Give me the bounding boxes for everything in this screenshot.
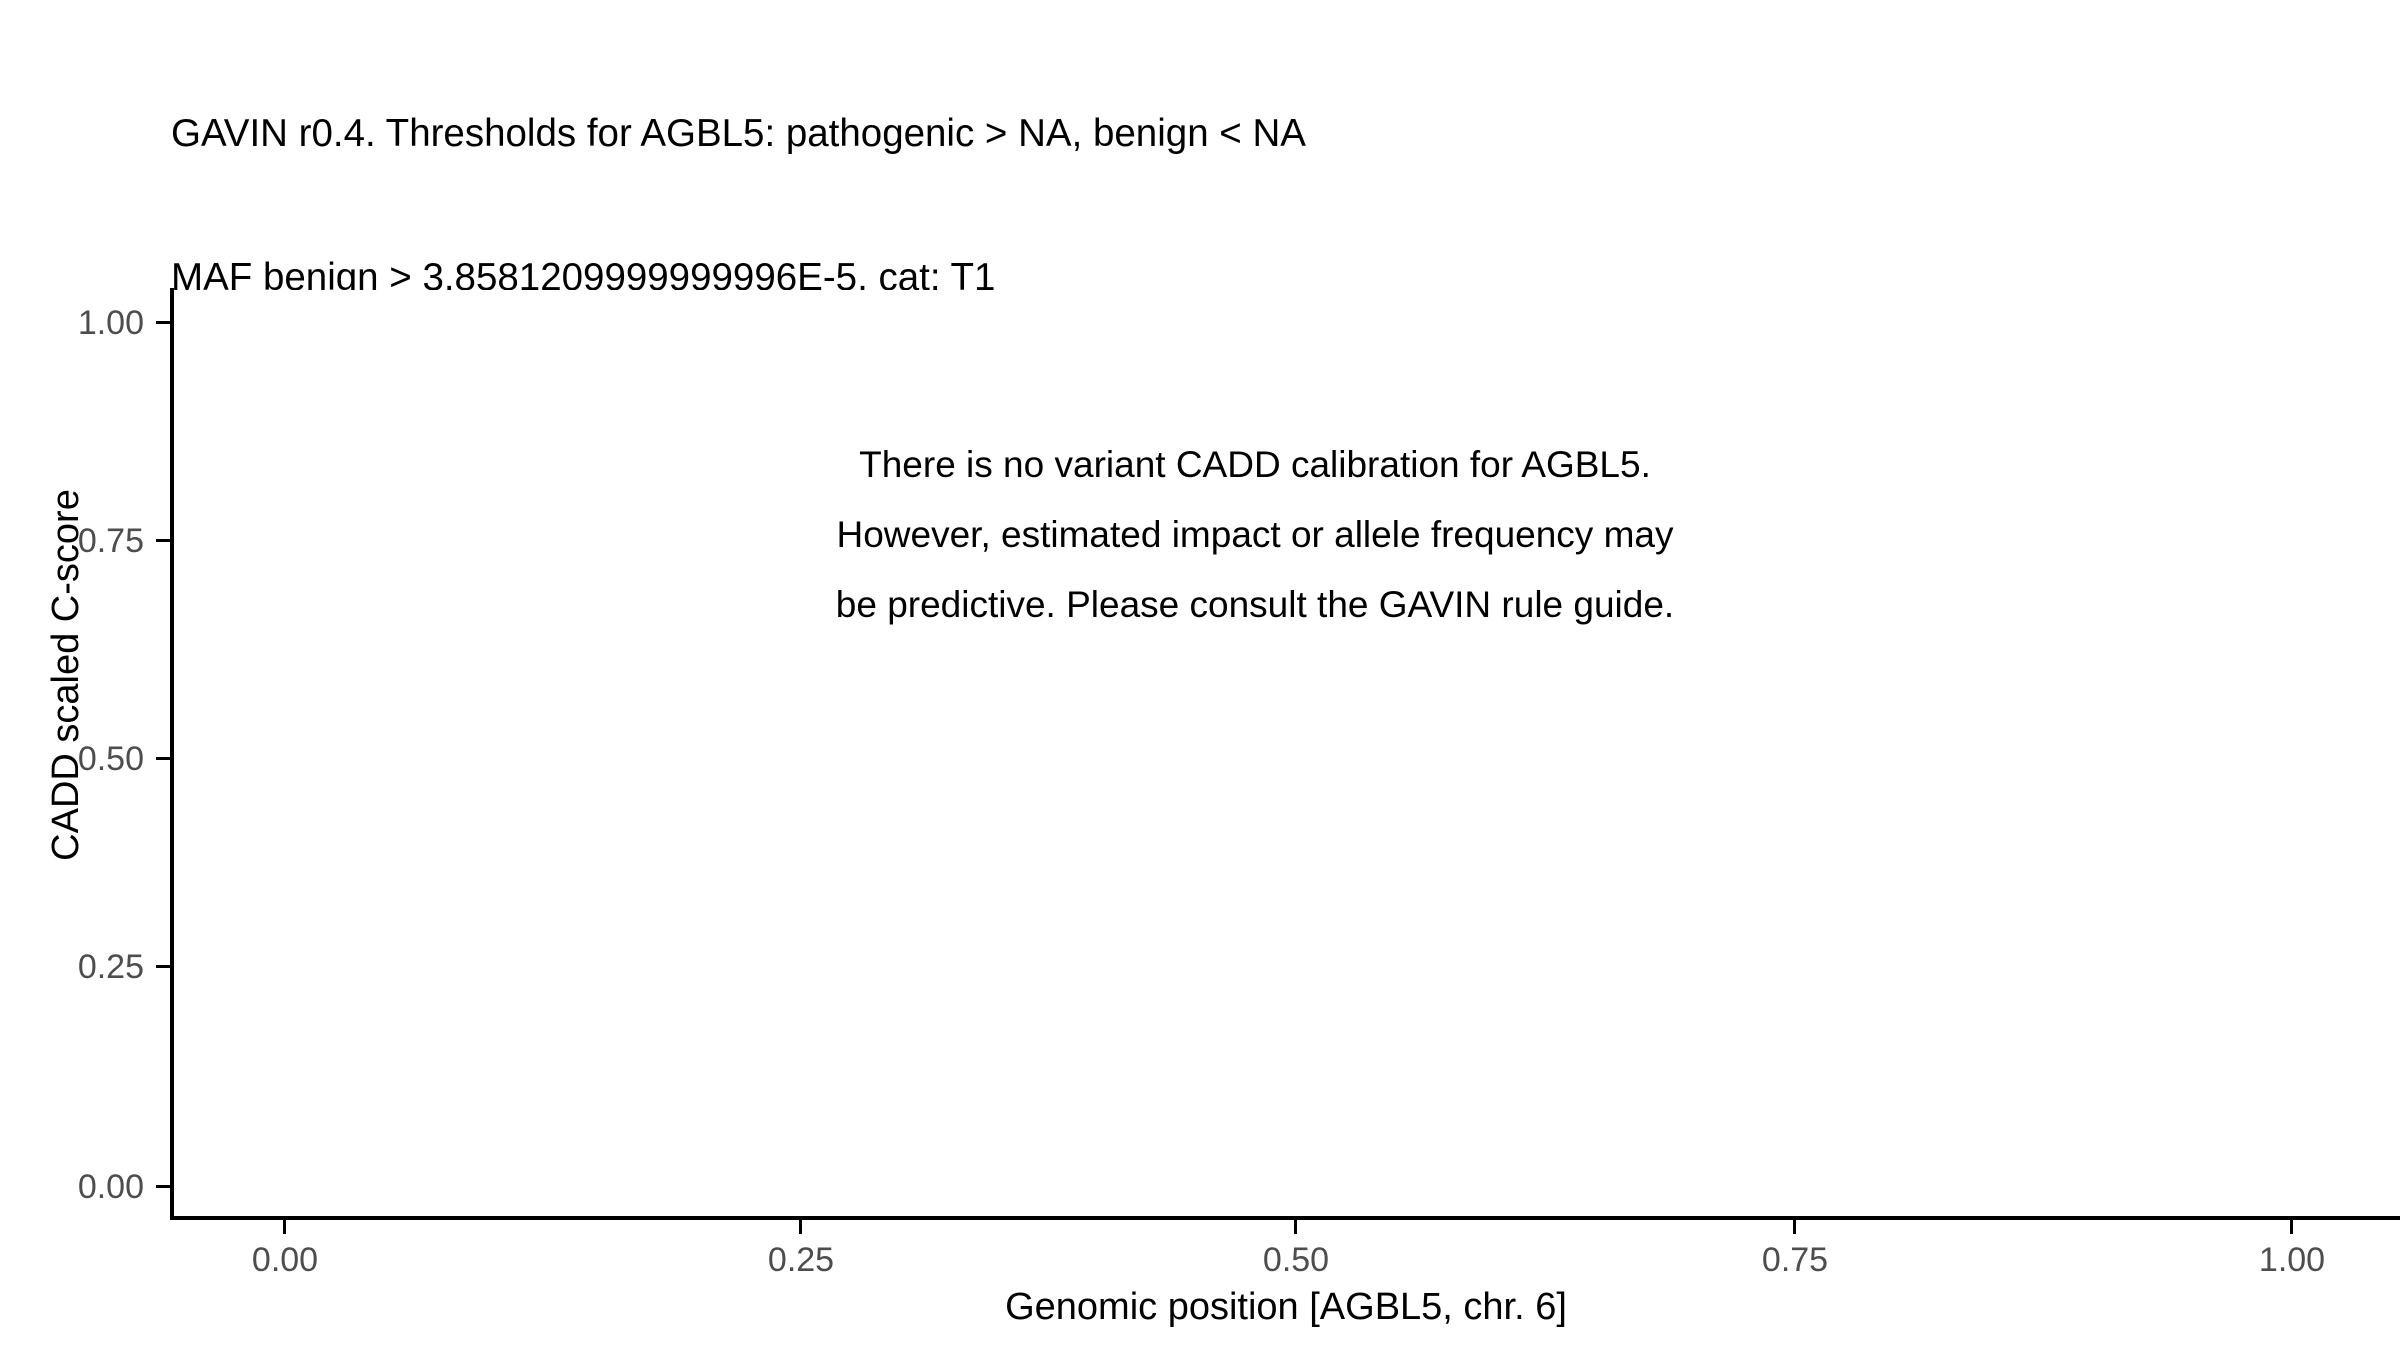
y-axis-title: CADD scaled C-score <box>44 175 88 1175</box>
x-tick-mark-0.75 <box>1793 1220 1796 1234</box>
no-calibration-annotation: There is no variant CADD calibration for… <box>540 430 1970 640</box>
x-axis-line <box>170 1216 2400 1220</box>
annotation-line-1: There is no variant CADD calibration for… <box>540 430 1970 500</box>
y-tick-mark-0.50 <box>156 757 170 760</box>
y-tick-mark-0.75 <box>156 539 170 542</box>
y-tick-mark-0.00 <box>156 1185 170 1188</box>
y-tick-label-0.00: 0.00 <box>24 1170 144 1204</box>
y-tick-mark-1.00 <box>156 321 170 324</box>
x-tick-mark-0.50 <box>1294 1220 1297 1234</box>
x-tick-label-1.00: 1.00 <box>2222 1243 2362 1277</box>
chart-canvas: GAVIN r0.4. Thresholds for AGBL5: pathog… <box>0 0 2400 1350</box>
annotation-line-2: However, estimated impact or allele freq… <box>540 500 1970 570</box>
x-tick-mark-0.25 <box>799 1220 802 1234</box>
x-tick-mark-0.00 <box>283 1220 286 1234</box>
x-tick-label-0.50: 0.50 <box>1226 1243 1366 1277</box>
y-axis-line <box>170 288 174 1218</box>
y-tick-mark-0.25 <box>156 965 170 968</box>
annotation-line-3: be predictive. Please consult the GAVIN … <box>540 570 1970 640</box>
x-axis-title: Genomic position [AGBL5, chr. 6] <box>172 1285 2400 1329</box>
plot-panel: There is no variant CADD calibration for… <box>172 290 2400 1218</box>
x-tick-label-0.25: 0.25 <box>731 1243 871 1277</box>
x-tick-label-0.75: 0.75 <box>1725 1243 1865 1277</box>
x-tick-label-0.00: 0.00 <box>215 1243 355 1277</box>
title-line-1: GAVIN r0.4. Thresholds for AGBL5: pathog… <box>171 110 2351 158</box>
x-tick-mark-1.00 <box>2290 1220 2293 1234</box>
